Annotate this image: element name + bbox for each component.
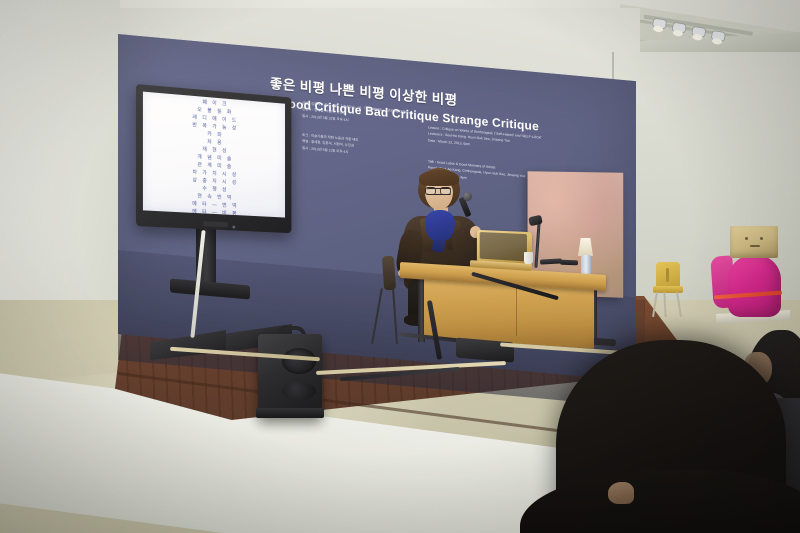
gallery-wall-left [0,0,120,340]
audience-member-left-hand [608,482,634,504]
pa-speaker-driver-upper [282,348,316,374]
lecturer-blue-scarf [425,210,455,240]
lecture-scene-photo: 좋은 비평 나쁜 비평 이상한 비평Good Critique Bad Crit… [0,0,800,533]
pa-speaker-driver-lower [282,382,316,400]
slide-row: 상 충 지 시 성 [192,176,238,186]
yellow-chair-legs [652,292,684,318]
track-lights-icon [640,6,780,46]
laptop-screen [480,232,527,261]
slide-row: 메 타 — 비 평 [192,208,238,217]
paper-cup [524,252,533,264]
presentation-television: 폐 이 크 오 불 질 화 레 디 메 이 드 반 복 가 능 성 카 피 차 … [136,84,291,233]
slide-word-cloud: 폐 이 크 오 불 질 화 레 디 메 이 드 반 복 가 능 성 카 피 차 … [143,92,285,218]
tv-brand-badge [203,221,228,227]
yellow-chair-notch [666,268,669,282]
sculpture-face-mouth [750,245,760,247]
slide-row: 차 용 [207,138,223,146]
pa-speaker-cabinet [258,334,322,418]
handheld-microphone-head [463,192,472,201]
tv-power-led-icon [232,226,235,229]
slide-row: 카 피 [207,130,223,138]
tv-screen: 폐 이 크 오 불 질 화 레 디 메 이 드 반 복 가 능 성 카 피 차 … [143,92,285,218]
lecturer-glasses-bridge [426,188,452,195]
pink-sculpture-body [728,255,781,317]
lecturer-hair-fringe [419,170,459,186]
sculpture-crate-head [730,226,778,258]
remote-control-b [560,260,578,266]
pa-speaker-base [256,408,324,418]
